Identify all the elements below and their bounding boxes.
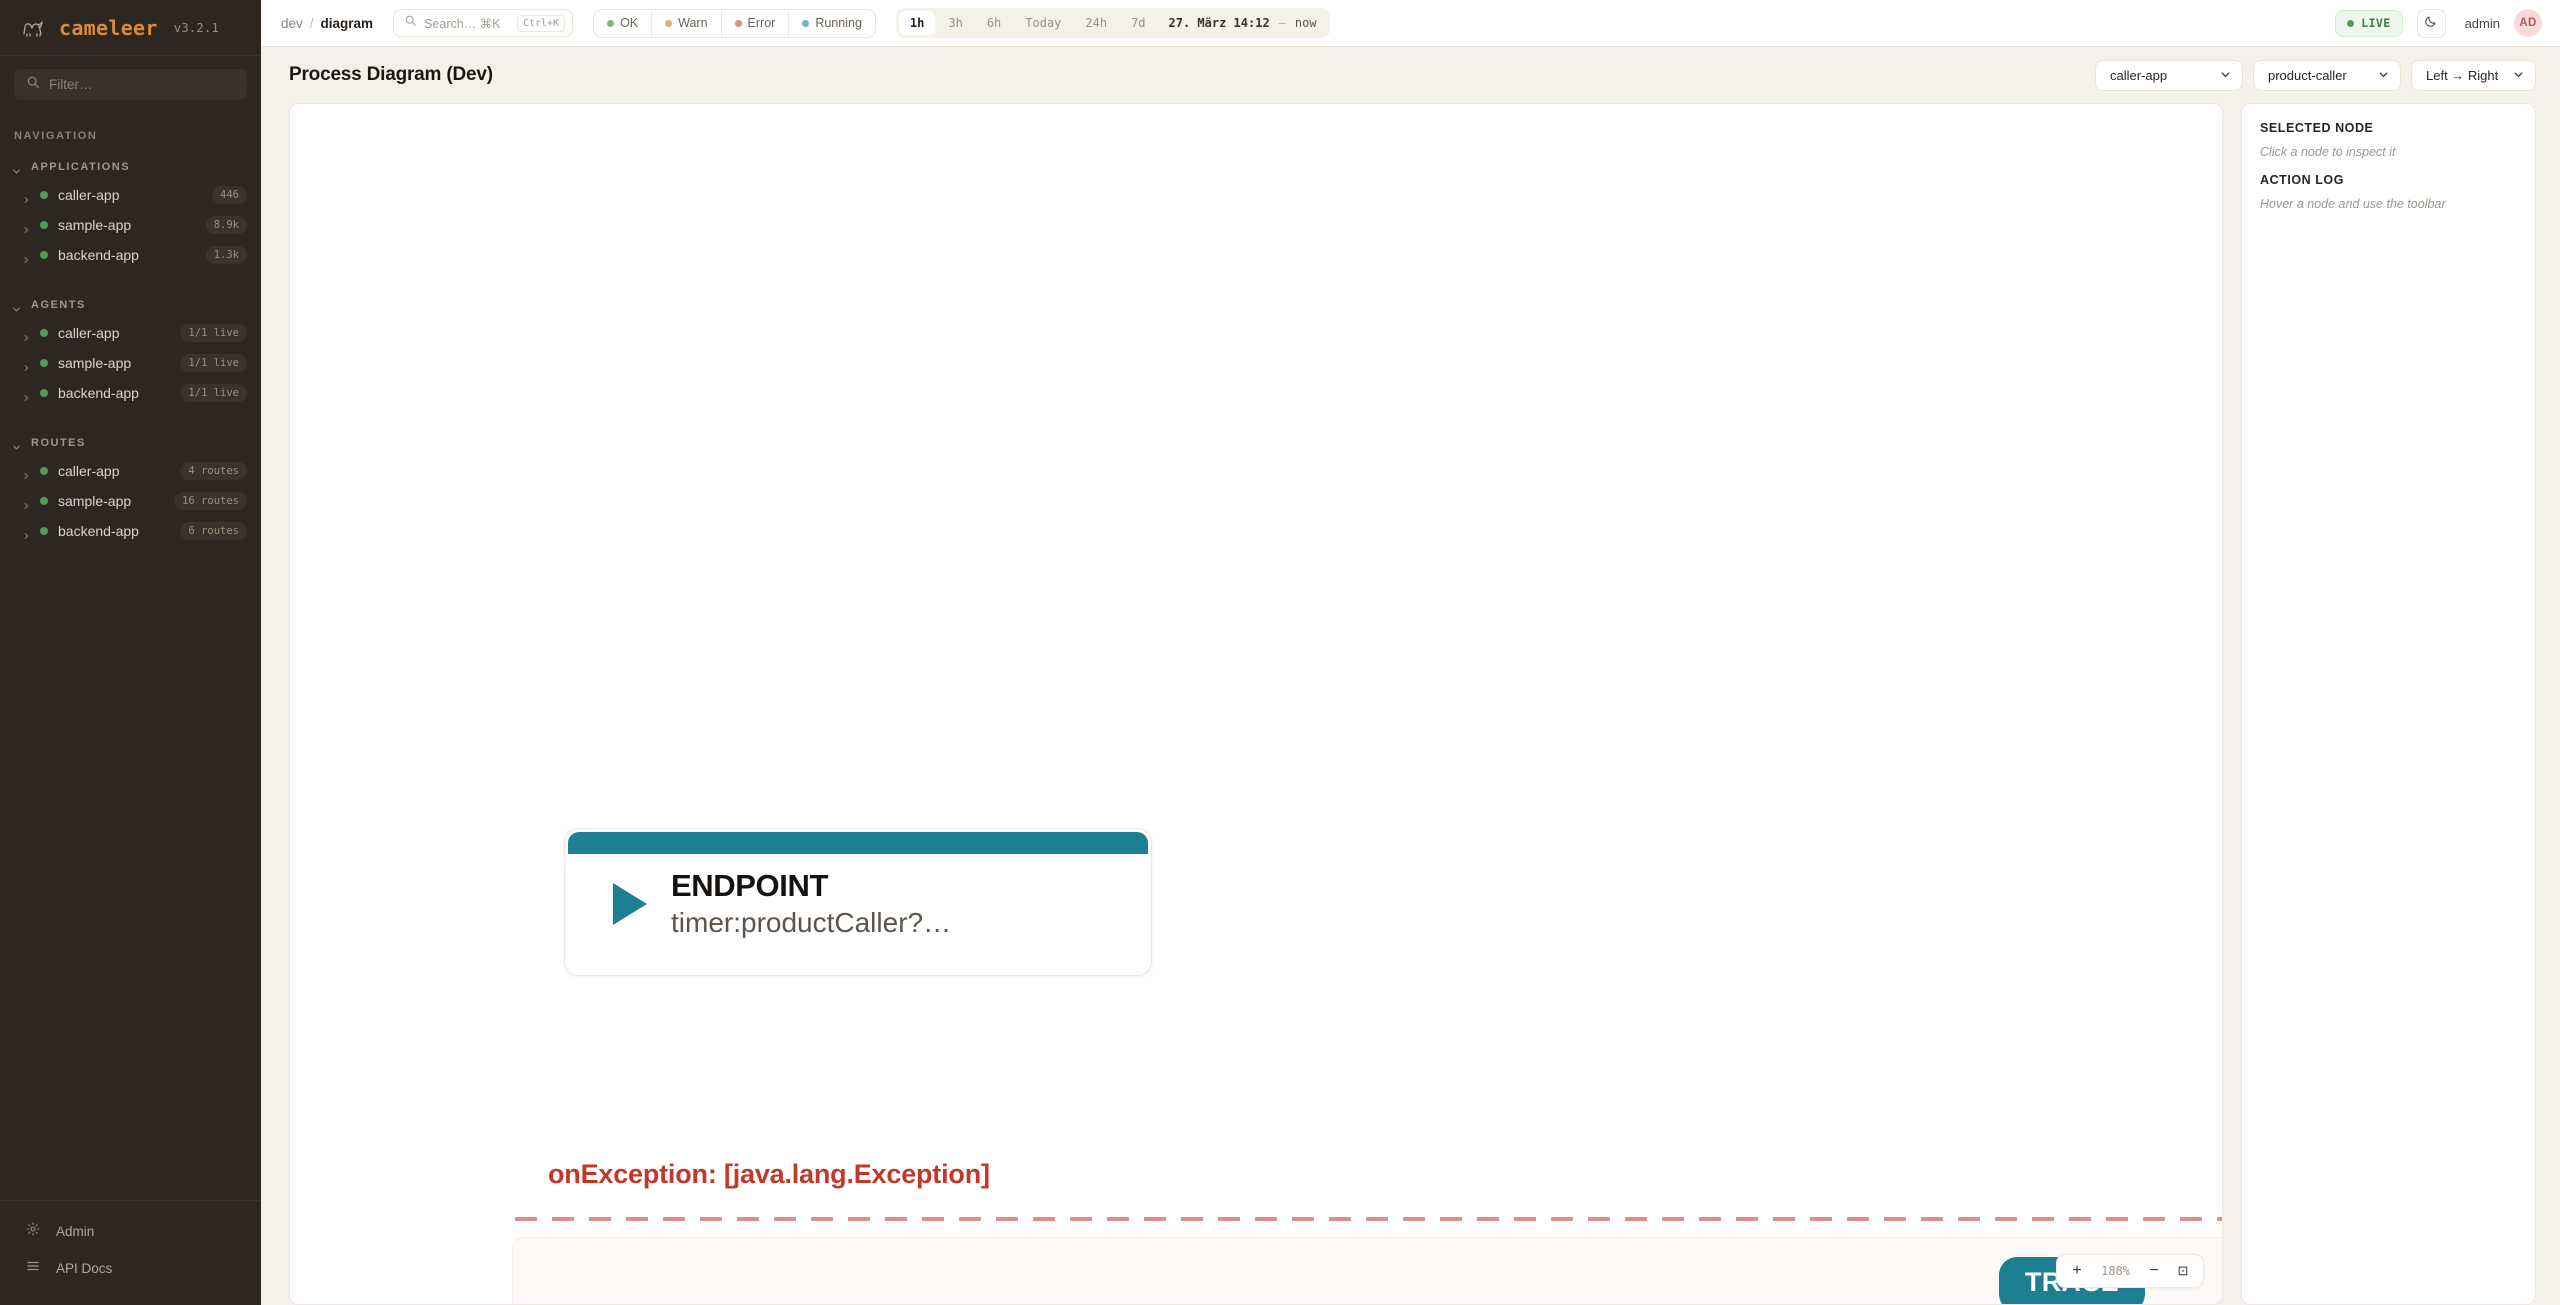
nav-group-agents: AGENTS caller-app 1/1 live sample-app 1/… <box>0 292 261 408</box>
camel-icon <box>20 15 46 41</box>
breadcrumb-root[interactable]: dev <box>281 16 303 31</box>
application-select[interactable]: caller-app <box>2095 60 2243 91</box>
route-select[interactable]: product-caller <box>2253 60 2401 91</box>
node-text: ENDPOINT timer:productCaller?… <box>671 868 951 939</box>
chevron-right-icon <box>22 497 30 505</box>
inspector-panel: SELECTED NODE Click a node to inspect it… <box>2241 103 2536 1305</box>
range-1h[interactable]: 1h <box>899 11 935 35</box>
live-label: LIVE <box>2361 16 2390 30</box>
filter-input[interactable] <box>49 77 235 92</box>
node-kind-label: ENDPOINT <box>671 868 951 904</box>
diagram-filters: caller-app product-caller Left → Right <box>2095 60 2536 91</box>
action-log-title: ACTION LOG <box>2260 173 2517 187</box>
page-header: Process Diagram (Dev) caller-app product… <box>261 47 2560 103</box>
zoom-level: 188% <box>2093 1264 2138 1278</box>
sidebar-agent-sample-app[interactable]: sample-app 1/1 live <box>0 348 261 378</box>
sidebar-agent-caller-app[interactable]: caller-app 1/1 live <box>0 318 261 348</box>
sidebar: cameleer v3.2.1 NAVIGATION <box>0 0 261 1305</box>
sidebar-item-badge: 16 routes <box>174 492 247 510</box>
live-badge[interactable]: LIVE <box>2335 10 2402 37</box>
chevron-right-icon <box>22 467 30 475</box>
sidebar-item-backend-app[interactable]: backend-app 1.3k <box>0 240 261 270</box>
chevron-down-icon <box>2378 68 2389 83</box>
sidebar-item-label: sample-app <box>58 493 164 509</box>
search-placeholder: Search… ⌘K <box>424 16 510 31</box>
nav-group-applications: APPLICATIONS caller-app 446 sample-app 8… <box>0 154 261 270</box>
chip-label: OK <box>620 16 638 30</box>
sidebar-route-sample-app[interactable]: sample-app 16 routes <box>0 486 261 516</box>
sidebar-item-badge: 4 routes <box>180 462 247 480</box>
route-select-value: product-caller <box>2268 68 2347 83</box>
chip-label: Running <box>815 16 862 30</box>
zoom-out-button[interactable]: − <box>2141 1258 2167 1284</box>
moon-icon <box>2424 14 2438 33</box>
node-header-bar <box>568 832 1148 854</box>
exception-region <box>512 1237 2223 1305</box>
range-24h[interactable]: 24h <box>1074 11 1118 35</box>
main-area: dev / diagram Search… ⌘K Ctrl+K OK <box>261 0 2560 1305</box>
status-dot <box>40 191 48 199</box>
search-icon <box>404 14 417 32</box>
sidebar-footer-label: Admin <box>56 1224 94 1239</box>
user-name: admin <box>2465 16 2500 31</box>
status-dot <box>40 221 48 229</box>
theme-toggle-button[interactable] <box>2417 9 2446 38</box>
status-dot <box>40 329 48 337</box>
direction-select-value: Left → Right <box>2426 68 2498 83</box>
gear-icon <box>26 1222 40 1241</box>
sidebar-item-label: backend-app <box>58 385 170 401</box>
brand-name: cameleer <box>59 16 158 40</box>
chevron-down-icon <box>12 163 21 172</box>
sidebar-item-admin[interactable]: Admin <box>0 1213 261 1250</box>
sidebar-item-label: caller-app <box>58 325 170 341</box>
chevron-right-icon <box>22 221 30 229</box>
sidebar-item-badge: 446 <box>212 186 247 204</box>
status-dot <box>802 20 809 27</box>
chip-label: Warn <box>678 16 707 30</box>
status-dot <box>40 527 48 535</box>
zoom-controls: + 188% − ⊡ <box>2056 1254 2204 1288</box>
chevron-down-icon <box>2220 68 2231 83</box>
status-dot <box>40 497 48 505</box>
sidebar-item-badge: 1/1 live <box>180 354 247 372</box>
app-root: cameleer v3.2.1 NAVIGATION <box>0 0 2560 1305</box>
search-shortcut-kbd: Ctrl+K <box>517 15 565 32</box>
sidebar-footer-label: API Docs <box>56 1261 112 1276</box>
sidebar-item-badge: 1/1 live <box>180 324 247 342</box>
sidebar-item-label: caller-app <box>58 187 202 203</box>
chip-error[interactable]: Error <box>722 10 790 37</box>
chip-label: Error <box>748 16 776 30</box>
search-box[interactable]: Search… ⌘K Ctrl+K <box>393 9 573 37</box>
sidebar-item-caller-app[interactable]: caller-app 446 <box>0 180 261 210</box>
range-6h[interactable]: 6h <box>976 11 1012 35</box>
group-header-agents[interactable]: AGENTS <box>0 292 261 318</box>
sidebar-item-badge: 6 routes <box>180 522 247 540</box>
filter-container <box>0 56 261 110</box>
chevron-right-icon <box>22 389 30 397</box>
sidebar-footer: Admin API Docs <box>0 1200 261 1305</box>
status-dot <box>607 20 614 27</box>
chevron-right-icon <box>22 191 30 199</box>
sidebar-item-badge: 1.3k <box>206 246 247 264</box>
selected-node-title: SELECTED NODE <box>2260 121 2517 135</box>
sidebar-item-sample-app[interactable]: sample-app 8.9k <box>0 210 261 240</box>
sidebar-agent-backend-app[interactable]: backend-app 1/1 live <box>0 378 261 408</box>
chevron-down-icon <box>12 301 21 310</box>
chevron-right-icon <box>22 359 30 367</box>
node-uri-label: timer:productCaller?… <box>671 906 951 940</box>
group-label: AGENTS <box>31 299 86 311</box>
sidebar-item-label: backend-app <box>58 523 170 539</box>
status-dot <box>735 20 742 27</box>
node-endpoint[interactable]: ENDPOINT timer:productCaller?… <box>564 828 1152 976</box>
chevron-right-icon <box>22 251 30 259</box>
sidebar-route-caller-app[interactable]: caller-app 4 routes <box>0 456 261 486</box>
page-title: Process Diagram (Dev) <box>289 64 493 86</box>
sidebar-item-label: sample-app <box>58 217 196 233</box>
exception-boundary-line <box>515 1217 2222 1221</box>
direction-select[interactable]: Left → Right <box>2411 60 2536 91</box>
group-header-routes[interactable]: ROUTES <box>0 430 261 456</box>
range-7d[interactable]: 7d <box>1120 11 1156 35</box>
range-from: 27. März 14:12 <box>1159 16 1270 30</box>
chip-running[interactable]: Running <box>789 10 875 37</box>
range-3h[interactable]: 3h <box>937 11 973 35</box>
zoom-fit-button[interactable]: ⊡ <box>2170 1258 2196 1284</box>
chevron-right-icon <box>22 527 30 535</box>
nav-group-routes: ROUTES caller-app 4 routes sample-app 16… <box>0 430 261 546</box>
topbar: dev / diagram Search… ⌘K Ctrl+K OK <box>261 0 2560 47</box>
nav-section-title: NAVIGATION <box>0 122 261 152</box>
status-dot <box>665 20 672 27</box>
play-icon <box>613 883 647 925</box>
exception-label: onException: [java.lang.Exception] <box>548 1159 990 1190</box>
sidebar-item-label: sample-app <box>58 355 170 371</box>
status-filter-chips: OK Warn Error Running <box>593 9 876 38</box>
menu-icon <box>26 1259 40 1278</box>
breadcrumb: dev / diagram <box>281 16 373 31</box>
filter-box[interactable] <box>14 69 247 100</box>
breadcrumb-current: diagram <box>321 16 374 31</box>
selected-node-hint: Click a node to inspect it <box>2260 145 2517 159</box>
search-icon <box>26 75 40 94</box>
avatar[interactable]: AD <box>2514 9 2542 37</box>
range-dash: — <box>1272 16 1293 30</box>
action-log-hint: Hover a node and use the toolbar <box>2260 197 2517 211</box>
brand[interactable]: cameleer v3.2.1 <box>0 0 261 56</box>
diagram-canvas[interactable]: ENDPOINT timer:productCaller?… onExcepti… <box>289 103 2223 1305</box>
zoom-in-button[interactable]: + <box>2064 1258 2090 1284</box>
chevron-down-icon <box>2513 68 2524 83</box>
sidebar-item-label: caller-app <box>58 463 170 479</box>
status-dot <box>40 359 48 367</box>
sidebar-item-api-docs[interactable]: API Docs <box>0 1250 261 1287</box>
sidebar-item-badge: 1/1 live <box>180 384 247 402</box>
live-dot-icon <box>2347 20 2354 27</box>
chip-warn[interactable]: Warn <box>652 10 721 37</box>
status-dot <box>40 251 48 259</box>
chevron-down-icon <box>12 439 21 448</box>
group-label: ROUTES <box>31 437 86 449</box>
breadcrumb-separator: / <box>310 16 314 31</box>
nav-scroll: NAVIGATION APPLICATIONS caller-app 446 <box>0 110 261 1200</box>
status-dot <box>40 467 48 475</box>
range-today[interactable]: Today <box>1014 11 1072 35</box>
sidebar-item-badge: 8.9k <box>206 216 247 234</box>
group-label: APPLICATIONS <box>31 161 130 173</box>
application-select-value: caller-app <box>2110 68 2167 83</box>
range-to: now <box>1295 16 1327 30</box>
status-dot <box>40 389 48 397</box>
sidebar-route-backend-app[interactable]: backend-app 6 routes <box>0 516 261 546</box>
chip-ok[interactable]: OK <box>594 10 652 37</box>
chevron-right-icon <box>22 329 30 337</box>
group-header-applications[interactable]: APPLICATIONS <box>0 154 261 180</box>
brand-version: v3.2.1 <box>174 20 219 35</box>
content-area: ENDPOINT timer:productCaller?… onExcepti… <box>261 103 2560 1305</box>
node-body: ENDPOINT timer:productCaller?… <box>565 854 1151 939</box>
sidebar-item-label: backend-app <box>58 247 196 263</box>
time-range-selector: 1h 3h 6h Today 24h 7d 27. März 14:12 — n… <box>896 8 1330 38</box>
